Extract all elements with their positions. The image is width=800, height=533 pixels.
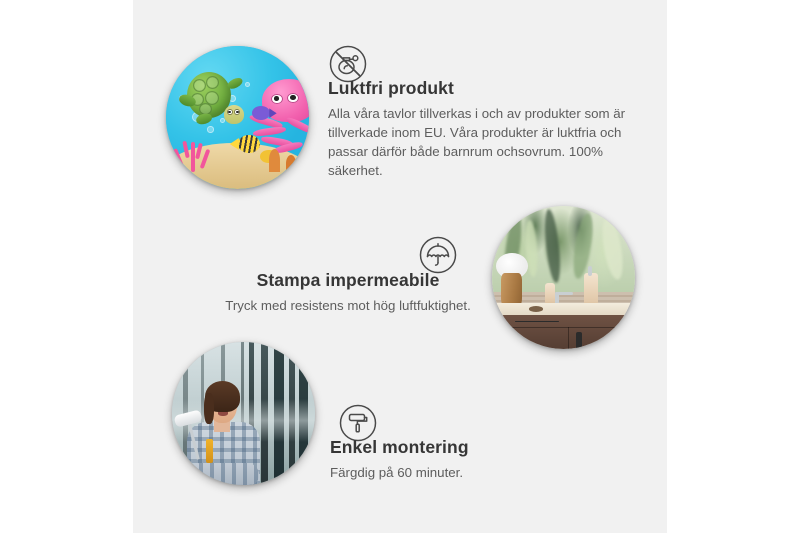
feature-text-odourless: Luktfri produkt Alla våra tavlor tillver… — [328, 78, 628, 180]
soap-dish — [529, 306, 543, 312]
coral-orange — [269, 149, 280, 172]
fish-yellow-striped — [238, 135, 261, 154]
fish-purple — [252, 106, 271, 120]
feature-description: Alla våra tavlor tillverkas i och av pro… — [328, 104, 628, 181]
feature-title: Stampa impermeabile — [218, 270, 478, 292]
shell-scale — [206, 76, 219, 89]
hand-tool — [206, 439, 213, 463]
feature-text-waterproof: Stampa impermeabile Tryck med resistens … — [218, 270, 478, 315]
vanity-cabinet — [501, 315, 635, 349]
feature-description: Färgdig på 60 minuter. — [330, 463, 590, 482]
hair-side — [204, 393, 214, 424]
turtle — [182, 72, 242, 125]
woman — [183, 376, 263, 485]
feature-text-easy-install: Enkel montering Färgdig på 60 minuter. — [330, 437, 590, 482]
door-handle — [576, 332, 581, 349]
umbrella-icon — [418, 235, 458, 275]
feature-title: Luktfri produkt — [328, 78, 628, 100]
bubble — [245, 82, 251, 88]
turtle-head — [224, 105, 244, 124]
sea-artwork — [166, 46, 309, 189]
feature-description: Tryck med resistens mot hög luftfuktighe… — [218, 296, 478, 315]
door-handle — [623, 332, 628, 349]
drawer-handle — [515, 321, 559, 323]
turtle-eye — [227, 109, 233, 115]
turtle-flipper — [226, 76, 244, 91]
soap-bottle — [545, 283, 555, 304]
faucet-spout — [555, 292, 574, 296]
shell-scale — [193, 79, 206, 92]
bathroom-vanity-circle-image — [492, 206, 635, 349]
woman-forest-wallpaper-circle-image — [172, 342, 315, 485]
octopus-eye — [287, 93, 299, 103]
crossed-arms — [188, 463, 258, 485]
coral-pink — [172, 132, 215, 172]
screenshot-root: Luktfri produkt Alla våra tavlor tillver… — [0, 0, 800, 533]
underwater-cartoon-circle-image — [166, 46, 309, 189]
feature-title: Enkel montering — [330, 437, 590, 459]
octopus-eye — [271, 94, 283, 104]
forest-artwork — [172, 342, 315, 485]
dispenser-pump — [588, 266, 592, 276]
bathroom-artwork — [492, 206, 635, 349]
coral-orange — [286, 155, 296, 172]
turtle-eye — [234, 109, 240, 115]
cabinet-seam — [568, 327, 570, 349]
